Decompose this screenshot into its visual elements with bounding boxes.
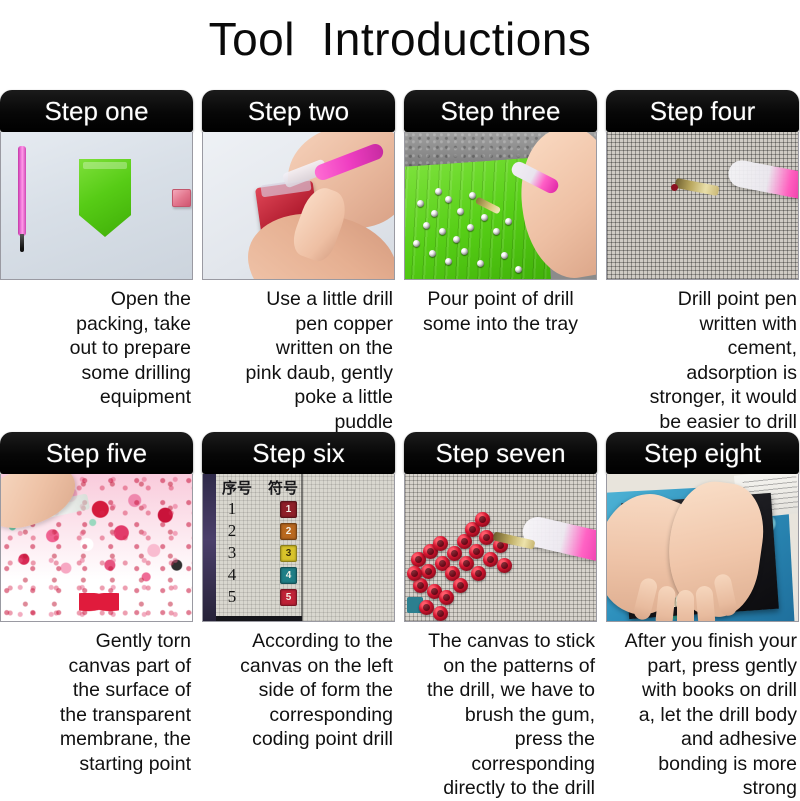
- step-header-eight: Step eight: [606, 432, 799, 474]
- step-panel-one: Step one Open the packing, take out to p…: [0, 90, 193, 434]
- step-caption-six: According to the canvas on the left side…: [202, 629, 395, 752]
- steps-row-1: Step one Open the packing, take out to p…: [0, 90, 800, 434]
- step-six-photo: 序号 符号 1 1 2 2 3 3: [202, 474, 395, 622]
- tray-lip-icon: [83, 162, 127, 169]
- step-panel-three: Step three: [404, 90, 597, 434]
- pencil-tip-icon: [20, 234, 24, 252]
- legend-header-row: 序号 符号: [219, 479, 301, 498]
- legend-row: 3 3: [219, 542, 301, 564]
- step-caption-one: Open the packing, take out to prepare so…: [0, 287, 193, 410]
- step-header-label: Step six: [252, 439, 345, 467]
- legend-row-number: 1: [223, 499, 241, 519]
- step-header-label: Step four: [650, 97, 756, 125]
- legend-row-symbol: 2: [280, 523, 297, 540]
- pen-metal-tip-icon: [674, 178, 719, 196]
- legend-row-number: 3: [223, 543, 241, 563]
- step-seven-photo: [404, 474, 597, 622]
- step-header-label: Step five: [46, 439, 147, 467]
- drill-point-icon: [670, 183, 678, 191]
- steps-row-2: Step five Gently torn canvas part of the…: [0, 432, 800, 801]
- canvas-edge-icon: [203, 474, 216, 621]
- step-panel-six: Step six 序号 符号 1 1: [202, 432, 395, 801]
- legend-row-symbol: 1: [280, 501, 297, 518]
- tool-introductions-page: Tool Introductions Step one Open the pac…: [0, 0, 800, 800]
- step-header-label: Step three: [441, 97, 561, 125]
- pink-wax-block-icon: [172, 189, 191, 207]
- step-caption-four: Drill point pen written with cement, ads…: [606, 287, 799, 434]
- legend-row: 2 2: [219, 520, 301, 542]
- pink-pencil-icon: [18, 146, 26, 236]
- step-caption-eight: After you finish your part, press gently…: [606, 629, 799, 801]
- step-panel-four: Step four Drill point pen written with c…: [606, 90, 799, 434]
- step-four-photo: [606, 132, 799, 280]
- page-title: Tool Introductions: [0, 8, 800, 70]
- step-caption-three: Pour point of drill some into the tray: [404, 287, 597, 336]
- step-caption-seven: The canvas to stick on the patterns of t…: [404, 629, 597, 801]
- legend-row: 5 5: [219, 586, 301, 608]
- step-caption-five: Gently torn canvas part of the surface o…: [0, 629, 193, 776]
- step-header-three: Step three: [404, 90, 597, 132]
- step-panel-five: Step five Gently torn canvas part of the…: [0, 432, 193, 801]
- pink-drill-pen-icon: [726, 158, 798, 201]
- legend-row-number: 2: [223, 521, 241, 541]
- step-header-two: Step two: [202, 90, 395, 132]
- red-bow-icon: [79, 593, 119, 615]
- legend-chart: 序号 符号 1 1 2 2 3 3: [219, 479, 301, 608]
- step-header-label: Step eight: [644, 439, 761, 467]
- step-two-photo: [202, 132, 395, 280]
- step-caption-two: Use a little drill pen copper written on…: [202, 287, 395, 434]
- legend-row-number: 4: [223, 565, 241, 585]
- legend-row-symbol: 5: [280, 589, 297, 606]
- step-eight-photo: [606, 474, 799, 622]
- step-header-one: Step one: [0, 90, 193, 132]
- legend-row: 1 1: [219, 498, 301, 520]
- step-three-photo: [404, 132, 597, 280]
- step-header-label: Step one: [44, 97, 148, 125]
- green-drill-tray-icon: [79, 159, 131, 237]
- step-header-four: Step four: [606, 90, 799, 132]
- legend-row: 4 4: [219, 564, 301, 586]
- step-header-five: Step five: [0, 432, 193, 474]
- step-panel-two: Step two Use a little drill pen copper w…: [202, 90, 395, 434]
- legend-row-number: 5: [223, 587, 241, 607]
- legend-row-symbol: 4: [280, 567, 297, 584]
- legend-header-symbol: 符号: [268, 479, 298, 497]
- step-header-seven: Step seven: [404, 432, 597, 474]
- step-header-label: Step seven: [435, 439, 565, 467]
- legend-row-symbol: 3: [280, 545, 297, 562]
- step-header-label: Step two: [248, 97, 349, 125]
- step-panel-eight: Step eight After you finish your part, p…: [606, 432, 799, 801]
- legend-bottom-bar-icon: [216, 616, 302, 621]
- step-one-photo: [0, 132, 193, 280]
- step-header-six: Step six: [202, 432, 395, 474]
- step-panel-seven: Step seven: [404, 432, 597, 801]
- legend-header-number: 序号: [222, 479, 252, 497]
- step-five-photo: [0, 474, 193, 622]
- legend-divider-icon: [301, 474, 303, 621]
